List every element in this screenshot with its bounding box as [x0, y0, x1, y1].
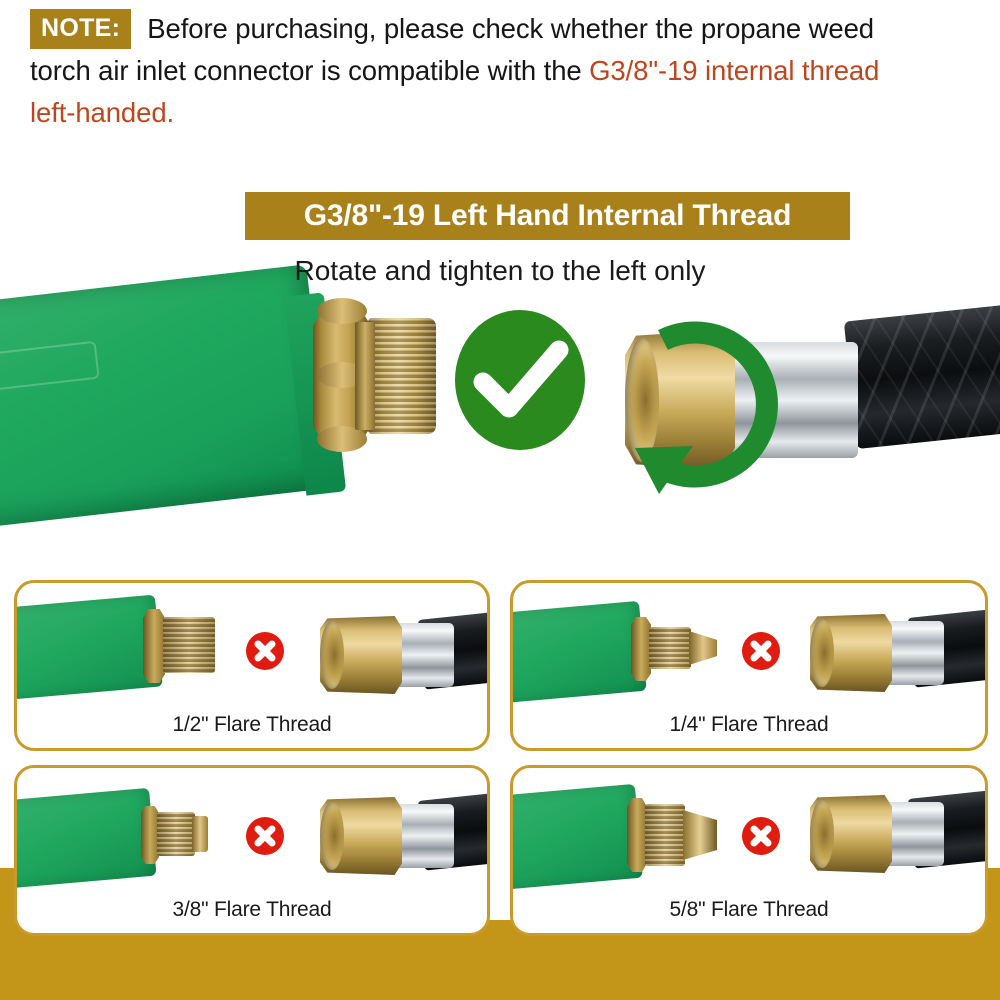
x-circle-icon: [246, 632, 284, 670]
note-paragraph: NOTE:Before purchasing, please check whe…: [30, 8, 980, 134]
note-badge: NOTE:: [30, 9, 131, 49]
brass-collar-hero: [355, 322, 375, 430]
thread-spec-banner-title: G3/8"-19 Left Hand Internal Thread: [304, 199, 792, 233]
x-circle-icon: [246, 817, 284, 855]
card-caption: 5/8" Flare Thread: [513, 898, 985, 922]
note-line-2-highlight: G3/8"-19 internal thread: [589, 55, 879, 86]
brass-male-thread-hero: [368, 318, 436, 434]
brass-female-nut: [810, 614, 892, 692]
brass-female-nut: [320, 797, 402, 875]
brass-hex-shoulder: [631, 617, 651, 681]
x-circle-icon: [742, 632, 780, 670]
brass-flare-cone: [689, 631, 717, 665]
green-propane-torch: [14, 595, 163, 700]
rotate-left-arrow-icon: [615, 318, 795, 498]
note-line-1: Before purchasing, please check whether …: [147, 13, 874, 44]
green-propane-torch: [510, 784, 643, 890]
brass-flare-thread: [157, 812, 195, 856]
card-caption: 3/8" Flare Thread: [17, 898, 487, 922]
brass-flare-cone: [683, 810, 717, 860]
brass-hex-shoulder: [627, 798, 647, 872]
note-block: NOTE:Before purchasing, please check whe…: [30, 8, 980, 134]
black-gas-hose-hero: [844, 303, 1000, 449]
hex-lobe-top: [317, 298, 367, 324]
note-line-3-highlight: left-handed.: [30, 97, 174, 128]
card-caption: 1/4" Flare Thread: [513, 713, 985, 737]
green-propane-torch-hero: [0, 264, 332, 528]
brass-flare-thread: [649, 627, 691, 669]
brass-hex-shoulder: [143, 609, 165, 683]
incompatible-card-five-eighth: 5/8" Flare Thread: [510, 765, 988, 936]
x-circle-icon: [742, 817, 780, 855]
brass-flare-cone: [192, 816, 208, 852]
green-propane-torch: [510, 601, 647, 703]
incompatible-card-three-eighth: 3/8" Flare Thread: [14, 765, 490, 936]
card-caption: 1/2" Flare Thread: [17, 713, 487, 737]
brass-female-nut: [320, 616, 402, 694]
brass-female-nut: [810, 795, 892, 873]
note-line-2-plain: torch air inlet connector is compatible …: [30, 55, 589, 86]
incompatible-card-quarter-inch: 1/4" Flare Thread: [510, 580, 988, 751]
check-circle-icon: [455, 310, 585, 450]
rotation-instruction-text: Rotate and tighten to the left only: [0, 255, 1000, 287]
green-propane-torch: [14, 788, 157, 888]
thread-spec-banner: G3/8"-19 Left Hand Internal Thread: [245, 192, 850, 240]
brass-flare-thread: [645, 804, 685, 866]
brass-male-thread: [163, 617, 215, 673]
incompatible-card-half-inch: 1/2" Flare Thread: [14, 580, 490, 751]
